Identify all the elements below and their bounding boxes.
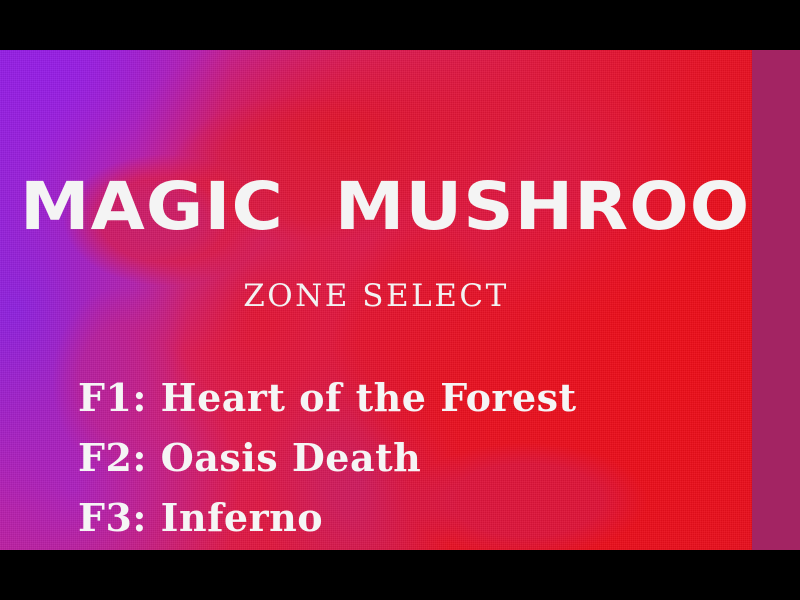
letterbox-bar-bottom (0, 550, 800, 600)
zone-select-menu: F1: Heart of the Forest F2: Oasis Death … (78, 368, 577, 548)
menu-overlay: MAGIC MUSHROOM ZONE SELECT F1: Heart of … (0, 50, 752, 550)
playfield-side-panel (752, 50, 800, 550)
game-screen: MAGIC MUSHROOM ZONE SELECT F1: Heart of … (0, 0, 800, 600)
zone-menu-item-f1[interactable]: F1: Heart of the Forest (78, 368, 577, 428)
game-playfield: MAGIC MUSHROOM ZONE SELECT F1: Heart of … (0, 50, 752, 550)
game-title: MAGIC MUSHROOM (20, 172, 752, 242)
letterbox-bar-top (0, 0, 800, 50)
zone-menu-item-f2[interactable]: F2: Oasis Death (78, 428, 577, 488)
zone-select-subtitle: ZONE SELECT (0, 278, 752, 314)
zone-menu-item-f3[interactable]: F3: Inferno (78, 488, 577, 548)
